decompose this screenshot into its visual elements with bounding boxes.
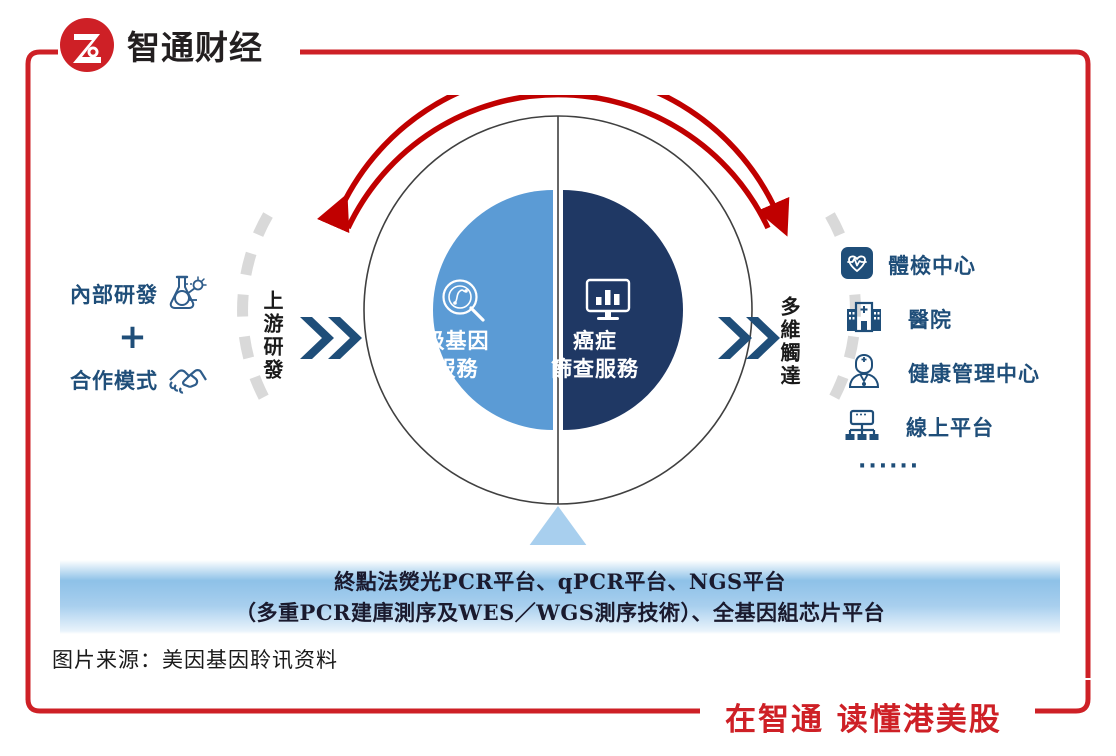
heartbeat-app-icon: [840, 246, 874, 285]
doctor-icon: [846, 353, 882, 394]
handshake-icon: [164, 360, 210, 401]
core-left-label: 消費級基因 檢測服務: [372, 327, 497, 384]
chevron-left-group: [300, 317, 362, 359]
channel-more-ellipsis: ······: [858, 454, 1090, 479]
zhitong-logo-icon: [60, 18, 114, 72]
input-row-partnership: 合作模式: [70, 358, 255, 402]
channel-item: 健康管理中心: [840, 346, 1090, 400]
banner-line-2: （多重PCR建庫測序及WES／WGS測序技術）、全基因組芯片平台: [235, 597, 885, 629]
funnel-triangle: [526, 506, 590, 545]
plus-sign: +: [70, 316, 195, 358]
channel-label: 醫院: [908, 304, 952, 334]
channel-item: 醫院: [840, 292, 1090, 346]
core-right-label: 癌症 篩查服務: [540, 327, 650, 384]
downstream-channels: 體檢中心 醫院: [840, 238, 1090, 479]
platform-banner: 終點法熒光PCR平台、qPCR平台、NGS平台 （多重PCR建庫測序及WES／W…: [60, 560, 1060, 634]
source-caption: 图片来源：美因基因聆讯资料: [52, 644, 338, 674]
network-platform-icon: [844, 408, 880, 447]
infographic-canvas: 智通财经: [0, 0, 1116, 756]
research-flask-icon: [164, 272, 208, 317]
channel-item: 線上平台: [840, 400, 1090, 454]
footer-slogan: 在智通 读懂港美股: [725, 694, 1002, 739]
brand-logo: 智通财经: [60, 18, 263, 72]
channel-label: 體檢中心: [888, 250, 976, 280]
channel-label: 線上平台: [906, 412, 994, 442]
input-row-internal-rd: 內部研發: [70, 272, 255, 316]
input-label-partnership: 合作模式: [70, 365, 158, 395]
channel-label: 健康管理中心: [908, 358, 1040, 388]
upstream-inputs: 內部研發 + 合作模式: [70, 272, 255, 402]
input-label-internal-rd: 內部研發: [70, 279, 158, 309]
stage-label-multichannel: 多維觸達: [779, 296, 799, 388]
brand-name: 智通财经: [127, 21, 263, 69]
platform-banner-text: 終點法熒光PCR平台、qPCR平台、NGS平台 （多重PCR建庫測序及WES／W…: [235, 566, 885, 629]
stage-label-upstream: 上游研發: [262, 290, 282, 382]
hospital-icon: [846, 301, 882, 338]
channel-item: 體檢中心: [840, 238, 1090, 292]
chevron-right-group: [718, 317, 780, 359]
banner-line-1: 終點法熒光PCR平台、qPCR平台、NGS平台: [235, 566, 885, 598]
